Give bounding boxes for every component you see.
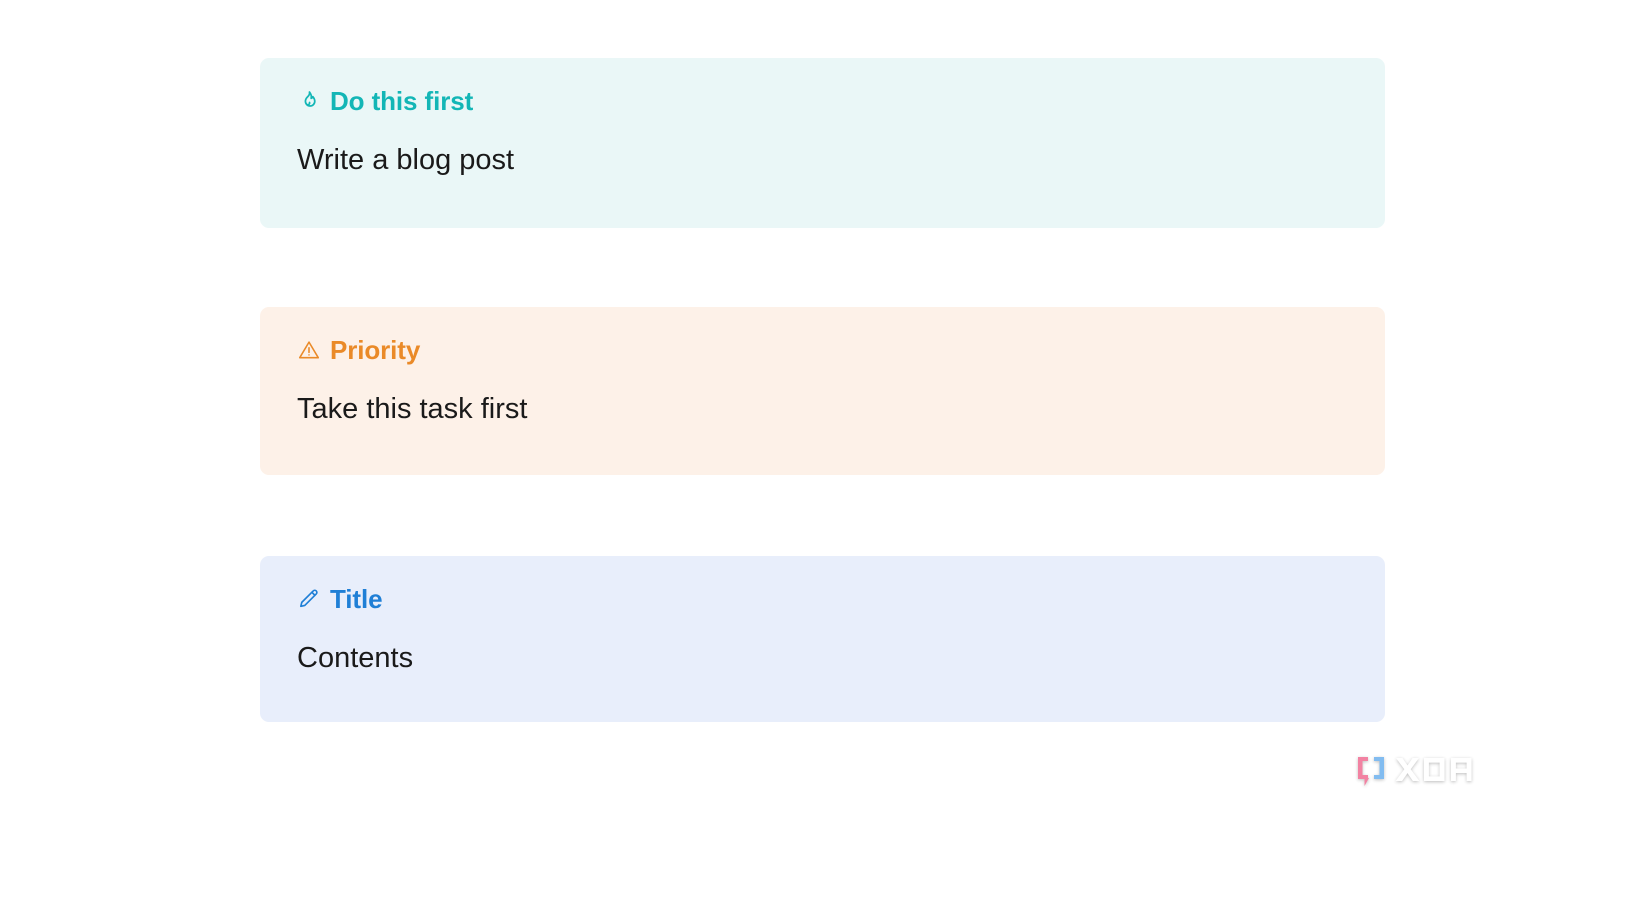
callout-header: Title — [260, 586, 1385, 612]
page-canvas: Do this first Write a blog post Priority… — [0, 0, 1650, 902]
callout-tip: Do this first Write a blog post — [260, 58, 1385, 228]
callout-title: Title — [330, 584, 382, 615]
callout-body: Take this task first — [260, 392, 1385, 427]
callout-warning: Priority Take this task first — [260, 307, 1385, 475]
xda-watermark — [1352, 747, 1512, 797]
callout-body: Write a blog post — [260, 143, 1385, 178]
callout-body: Contents — [260, 641, 1385, 676]
callout-header: Priority — [260, 337, 1385, 363]
callout-title: Priority — [330, 335, 420, 366]
warning-triangle-icon — [298, 339, 320, 361]
callout-header: Do this first — [260, 88, 1385, 114]
flame-icon — [298, 90, 320, 112]
pencil-icon — [298, 588, 320, 610]
callout-title: Do this first — [330, 86, 473, 117]
callout-note: Title Contents — [260, 556, 1385, 722]
